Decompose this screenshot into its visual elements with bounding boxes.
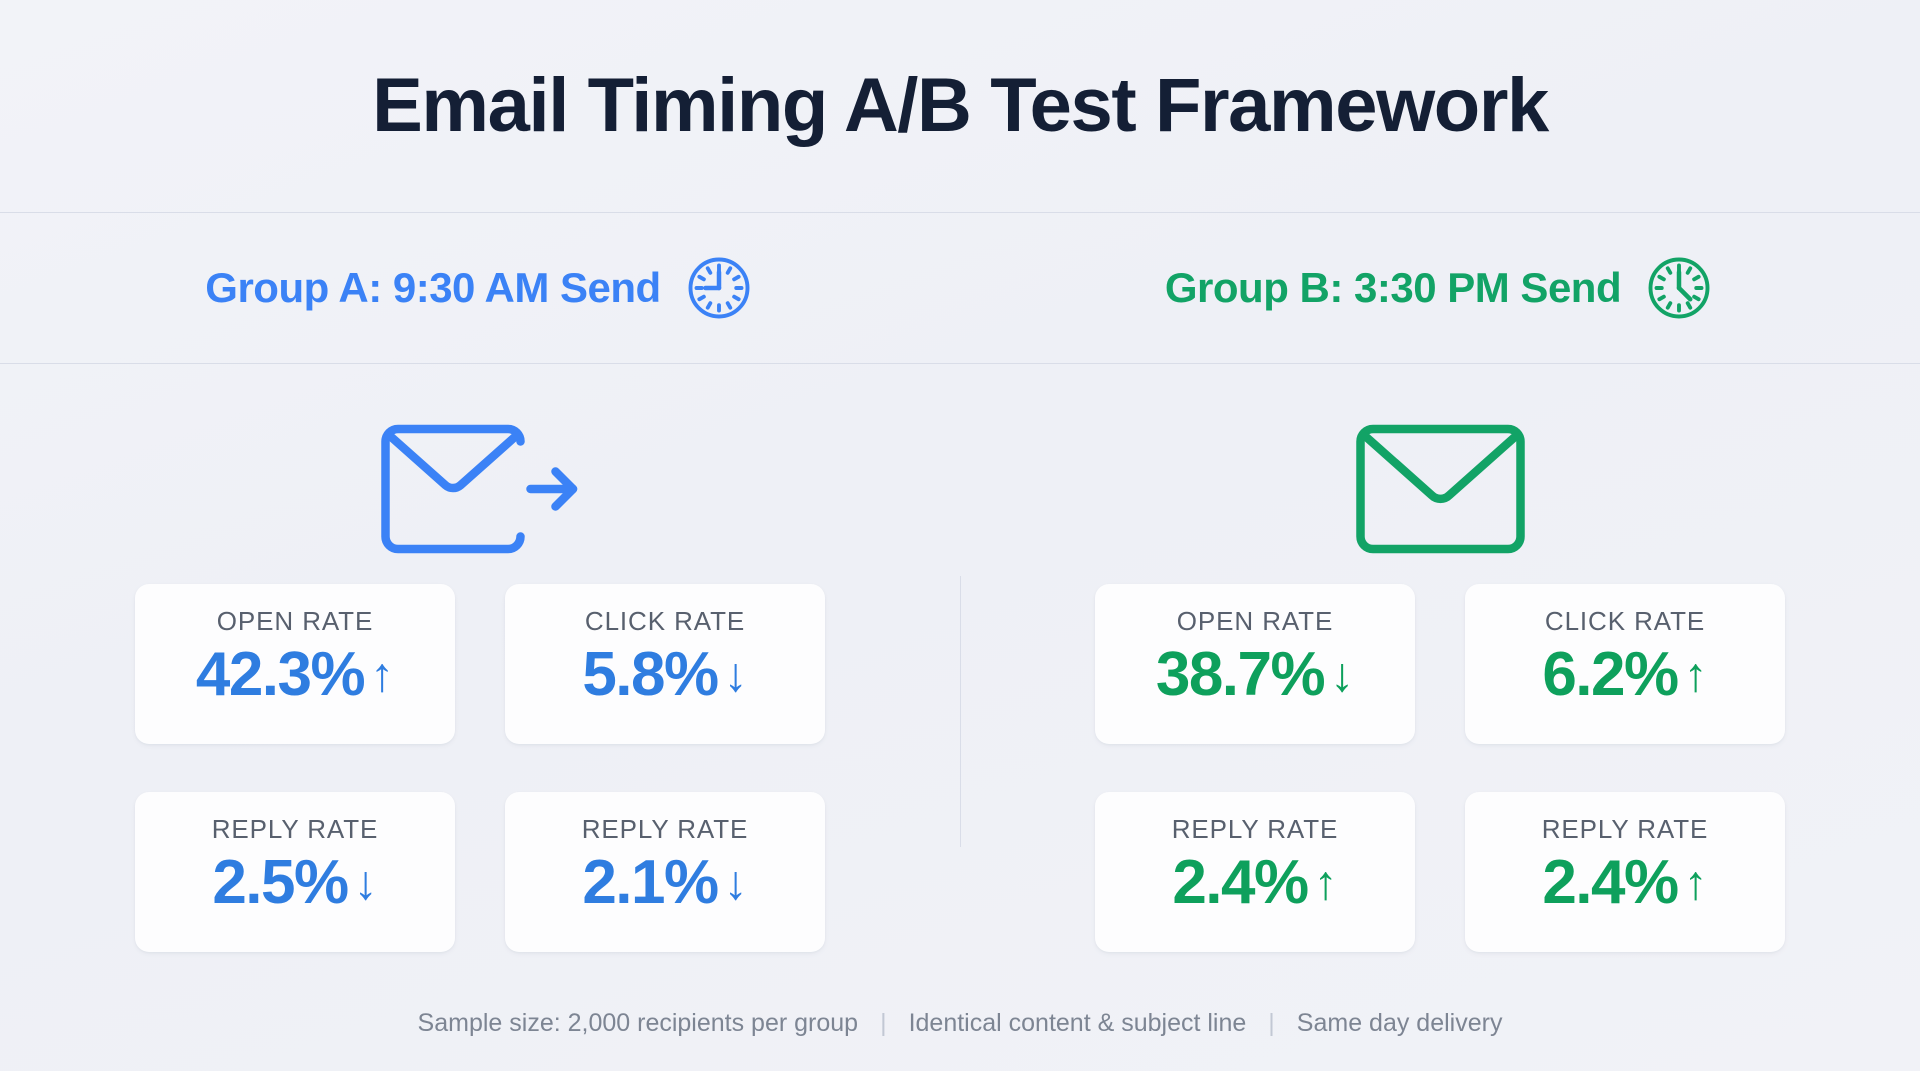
metric-label: REPLY RATE (212, 816, 379, 842)
trend-up-icon: ↑ (1314, 860, 1338, 908)
metric-value: 2.5% (212, 852, 347, 914)
trend-up-icon: ↑ (1684, 860, 1708, 908)
metric-value-row: 5.8% ↓ (582, 644, 747, 706)
metric-card-open-rate[interactable]: OPEN RATE 42.3% ↑ (135, 584, 455, 744)
email-icon (1353, 404, 1528, 574)
metric-value: 2.4% (1542, 852, 1677, 914)
group-b-column: OPEN RATE 38.7% ↓ CLICK RATE 6.2% ↑ REPL… (960, 404, 1920, 975)
group-header-row: Group A: 9:30 AM Send (0, 213, 1920, 363)
metric-card-open-rate[interactable]: OPEN RATE 38.7% ↓ (1095, 584, 1415, 744)
trend-down-icon: ↓ (1330, 652, 1354, 700)
footer-sample-size: Sample size: 2,000 recipients per group (396, 1009, 881, 1038)
metric-value: 2.4% (1172, 852, 1307, 914)
metric-value-row: 2.4% ↑ (1172, 852, 1337, 914)
metric-label: OPEN RATE (1177, 608, 1333, 634)
metric-card-reply-rate-1[interactable]: REPLY RATE 2.4% ↑ (1095, 792, 1415, 952)
group-body-row: OPEN RATE 42.3% ↑ CLICK RATE 5.8% ↓ REPL… (0, 364, 1920, 975)
group-a-column: OPEN RATE 42.3% ↑ CLICK RATE 5.8% ↓ REPL… (0, 404, 960, 975)
metric-value-row: 38.7% ↓ (1156, 644, 1354, 706)
metric-card-reply-rate-1[interactable]: REPLY RATE 2.5% ↓ (135, 792, 455, 952)
metric-value-row: 2.5% ↓ (212, 852, 377, 914)
metric-value-row: 2.4% ↑ (1542, 852, 1707, 914)
group-a-metric-cards: OPEN RATE 42.3% ↑ CLICK RATE 5.8% ↓ REPL… (135, 584, 825, 952)
footer-identical-content: Identical content & subject line (887, 1009, 1269, 1038)
metric-label: REPLY RATE (1542, 816, 1709, 842)
trend-down-icon: ↓ (724, 652, 748, 700)
trend-up-icon: ↑ (370, 652, 394, 700)
column-divider (960, 576, 961, 847)
trend-down-icon: ↓ (724, 860, 748, 908)
metric-label: OPEN RATE (217, 608, 373, 634)
metric-value-row: 6.2% ↑ (1542, 644, 1707, 706)
metric-value: 6.2% (1542, 644, 1677, 706)
metric-value-row: 2.1% ↓ (582, 852, 747, 914)
clock-icon (1643, 252, 1715, 324)
page-title: Email Timing A/B Test Framework (372, 68, 1548, 144)
metric-card-click-rate[interactable]: CLICK RATE 6.2% ↑ (1465, 584, 1785, 744)
metric-card-reply-rate-2[interactable]: REPLY RATE 2.1% ↓ (505, 792, 825, 952)
trend-down-icon: ↓ (354, 860, 378, 908)
trend-up-icon: ↑ (1684, 652, 1708, 700)
metric-card-reply-rate-2[interactable]: REPLY RATE 2.4% ↑ (1465, 792, 1785, 952)
metric-value-row: 42.3% ↑ (196, 644, 394, 706)
metric-label: CLICK RATE (1545, 608, 1705, 634)
title-band: Email Timing A/B Test Framework (0, 0, 1920, 212)
metric-label: REPLY RATE (1172, 816, 1339, 842)
metric-value: 2.1% (582, 852, 717, 914)
footer-same-day-delivery: Same day delivery (1275, 1009, 1525, 1038)
infographic-root: Email Timing A/B Test Framework Group A:… (0, 0, 1920, 1071)
footer-note: Sample size: 2,000 recipients per group … (0, 975, 1920, 1071)
group-b-metric-cards: OPEN RATE 38.7% ↓ CLICK RATE 6.2% ↑ REPL… (1095, 584, 1785, 952)
group-header-a: Group A: 9:30 AM Send (0, 213, 960, 363)
group-b-title: Group B: 3:30 PM Send (1165, 267, 1621, 309)
metric-label: CLICK RATE (585, 608, 745, 634)
group-a-title: Group A: 9:30 AM Send (205, 267, 660, 309)
email-send-icon (378, 404, 583, 574)
metric-value: 38.7% (1156, 644, 1324, 706)
group-header-b: Group B: 3:30 PM Send (960, 213, 1920, 363)
metric-value: 5.8% (582, 644, 717, 706)
metric-card-click-rate[interactable]: CLICK RATE 5.8% ↓ (505, 584, 825, 744)
metric-value: 42.3% (196, 644, 364, 706)
clock-icon (683, 252, 755, 324)
metric-label: REPLY RATE (582, 816, 749, 842)
